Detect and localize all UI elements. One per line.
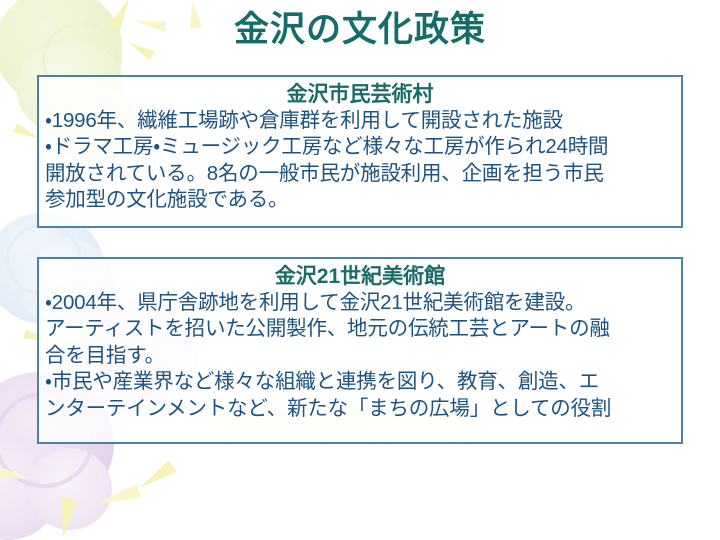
body-line: 合を目指す。	[45, 343, 676, 370]
text-box-kanazawa-21st-century-museum: 金沢21世紀美術館 ・2004年、県庁舎跡地を利用して金沢21世紀美術館を建設。…	[37, 257, 683, 444]
body-line: アーティストを招いた公開製作、地元の伝統工芸とアートの融	[45, 316, 676, 343]
body-line: 参加型の文化施設である。	[45, 187, 676, 214]
text-box-kanazawa-shimin-geijutsu-mura: 金沢市民芸術村 ・1996年、繊維工場跡や倉庫群を利用して開設された施設 ・ドラ…	[37, 75, 683, 228]
box-heading: 金沢市民芸術村	[39, 83, 681, 107]
body-line: ・ドラマ工房・ミュージック工房など様々な工房が作られ24時間	[45, 134, 676, 161]
body-line: ンターテインメントなど、新たな「まちの広場」としての役割	[45, 396, 676, 423]
body-line: 開放されている。8名の一般市民が施設利用、企画を担う市民	[45, 161, 676, 188]
box-body: ・1996年、繊維工場跡や倉庫群を利用して開設された施設 ・ドラマ工房・ミュージ…	[39, 108, 681, 215]
slide-canvas: 金沢の文化政策 金沢市民芸術村 ・1996年、繊維工場跡や倉庫群を利用して開設さ…	[0, 0, 720, 540]
body-line: ・2004年、県庁舎跡地を利用して金沢21世紀美術館を建設。	[45, 290, 676, 317]
body-line: ・1996年、繊維工場跡や倉庫群を利用して開設された施設	[45, 108, 676, 135]
slide-title: 金沢の文化政策	[0, 10, 720, 51]
slide-content: 金沢の文化政策 金沢市民芸術村 ・1996年、繊維工場跡や倉庫群を利用して開設さ…	[0, 0, 720, 540]
box-body: ・2004年、県庁舎跡地を利用して金沢21世紀美術館を建設。 アーティストを招い…	[39, 290, 681, 423]
box-heading: 金沢21世紀美術館	[39, 265, 681, 289]
body-line: ・市民や産業界など様々な組織と連携を図り、教育、創造、エ	[45, 369, 676, 396]
